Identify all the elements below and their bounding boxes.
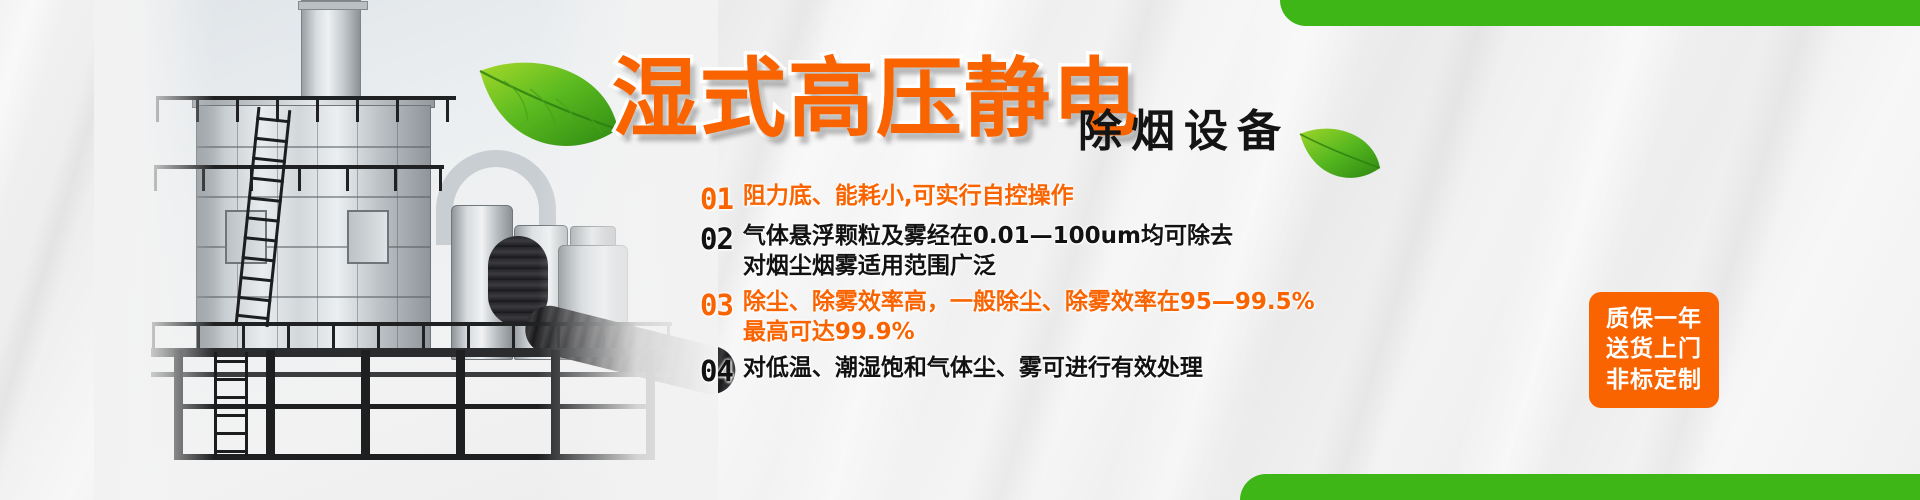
- photo-fade-left: [94, 0, 214, 500]
- page-title: 湿式高压静电: [612, 56, 1140, 142]
- feature-number: 02: [700, 222, 733, 257]
- feature-number: 01: [700, 182, 733, 217]
- feature-line-1: 阻力底、能耗小,可实行自控操作: [743, 183, 1074, 209]
- feature-item-03: 03 除尘、除雾效率高，一般除尘、除雾效率在95—99.5% 最高可达99.9%: [700, 288, 1300, 347]
- feature-item-02: 02 气体悬浮颗粒及雾经在0.01—100um均可除去 对烟尘烟雾适用范围广泛: [700, 222, 1300, 281]
- feature-line-1: 除尘、除雾效率高，一般除尘、除雾效率在95—99.5%: [743, 289, 1315, 315]
- feature-text: 气体悬浮颗粒及雾经在0.01—100um均可除去 对烟尘烟雾适用范围广泛: [743, 222, 1233, 281]
- badge-line-3: 非标定制: [1606, 365, 1702, 395]
- feature-line-2: 对烟尘烟雾适用范围广泛: [743, 252, 1233, 281]
- feature-text: 除尘、除雾效率高，一般除尘、除雾效率在95—99.5% 最高可达99.9%: [743, 288, 1315, 347]
- green-bar-bottom: [1240, 474, 1920, 500]
- badge-line-2: 送货上门: [1606, 334, 1702, 364]
- feature-line-1: 对低温、潮湿饱和气体尘、雾可进行有效处理: [743, 355, 1203, 381]
- feature-line-1: 气体悬浮颗粒及雾经在0.01—100um均可除去: [743, 223, 1233, 249]
- feature-list: 01 阻力底、能耗小,可实行自控操作 02 气体悬浮颗粒及雾经在0.01—100…: [700, 182, 1300, 395]
- feature-text: 对低温、潮湿饱和气体尘、雾可进行有效处理: [743, 354, 1203, 383]
- feature-item-04: 04 对低温、潮湿饱和气体尘、雾可进行有效处理: [700, 354, 1300, 389]
- photo-ladder-2: [214, 352, 248, 457]
- feature-text: 阻力底、能耗小,可实行自控操作: [743, 182, 1074, 211]
- page-subtitle: 除烟设备: [1078, 110, 1290, 154]
- badge-line-1: 质保一年: [1606, 304, 1702, 334]
- green-bar-top: [1280, 0, 1920, 26]
- promo-banner: 湿式高压静电 湿式高压静电 除烟设备 01 阻力底、能耗小,可实行自控操作 02…: [0, 0, 1920, 500]
- feature-number: 03: [700, 288, 733, 323]
- leaf-icon-left: [474, 55, 624, 165]
- photo-main-tower: [196, 105, 431, 355]
- guarantee-badge: 质保一年 送货上门 非标定制: [1589, 292, 1719, 408]
- feature-item-01: 01 阻力底、能耗小,可实行自控操作: [700, 182, 1300, 217]
- feature-number: 04: [700, 354, 733, 389]
- leaf-icon-right: [1296, 124, 1384, 190]
- feature-line-2: 最高可达99.9%: [743, 318, 1315, 347]
